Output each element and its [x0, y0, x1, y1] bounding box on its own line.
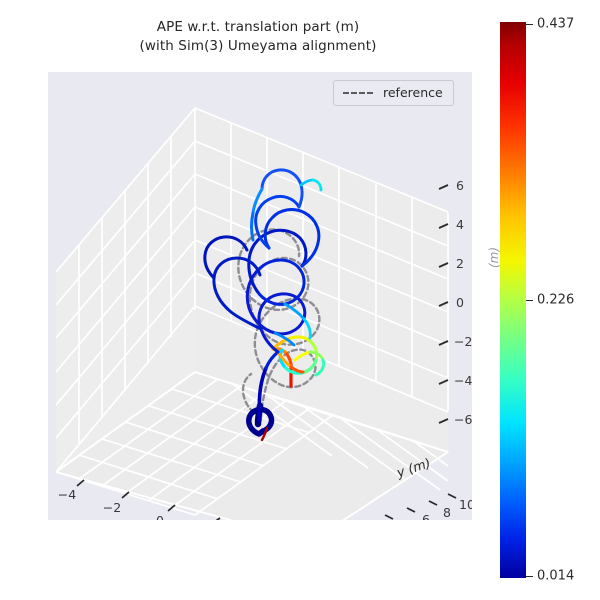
- svg-text:6: 6: [456, 178, 464, 193]
- svg-text:10: 10: [459, 497, 472, 512]
- legend-item-reference: reference: [383, 85, 443, 100]
- colorbar-tick-min: [526, 576, 533, 577]
- colorbar-axis-label: (m): [487, 247, 501, 268]
- svg-text:2: 2: [456, 256, 464, 271]
- axes-3d-panel[interactable]: −4 −2 0 2 4 6 x (m) −2 0 2: [48, 72, 472, 520]
- title-line-1: APE w.r.t. translation part (m): [48, 18, 468, 37]
- legend[interactable]: reference: [333, 80, 454, 106]
- svg-text:6: 6: [422, 512, 430, 520]
- svg-text:−6: −6: [454, 412, 472, 427]
- colorbar-tick-max: [526, 24, 533, 25]
- plot-3d-svg: −4 −2 0 2 4 6 x (m) −2 0 2: [48, 72, 472, 520]
- chart-title: APE w.r.t. translation part (m) (with Si…: [48, 18, 468, 56]
- legend-reference-line-icon: [343, 92, 373, 94]
- colorbar-label-mid: 0.226: [537, 293, 574, 308]
- svg-text:−2: −2: [103, 500, 121, 515]
- svg-text:−4: −4: [454, 373, 472, 388]
- colorbar-label-max: 0.437: [537, 17, 574, 32]
- title-line-2: (with Sim(3) Umeyama alignment): [48, 37, 468, 56]
- svg-text:4: 4: [456, 217, 464, 232]
- colorbar-tick-mid: [526, 300, 533, 301]
- colorbar[interactable]: 0.437 0.226 0.014: [500, 22, 526, 578]
- svg-text:−4: −4: [58, 487, 76, 502]
- colorbar-gradient: [500, 22, 526, 578]
- svg-text:−2: −2: [454, 334, 472, 349]
- svg-text:0: 0: [456, 295, 464, 310]
- colorbar-label-min: 0.014: [537, 569, 574, 584]
- svg-text:8: 8: [443, 505, 451, 520]
- svg-text:0: 0: [156, 513, 164, 520]
- zaxis-tick-labels: 6 4 2 0 −2 −4 −6: [454, 178, 472, 427]
- figure-canvas: APE w.r.t. translation part (m) (with Si…: [0, 0, 600, 600]
- svg-text:4: 4: [400, 519, 408, 520]
